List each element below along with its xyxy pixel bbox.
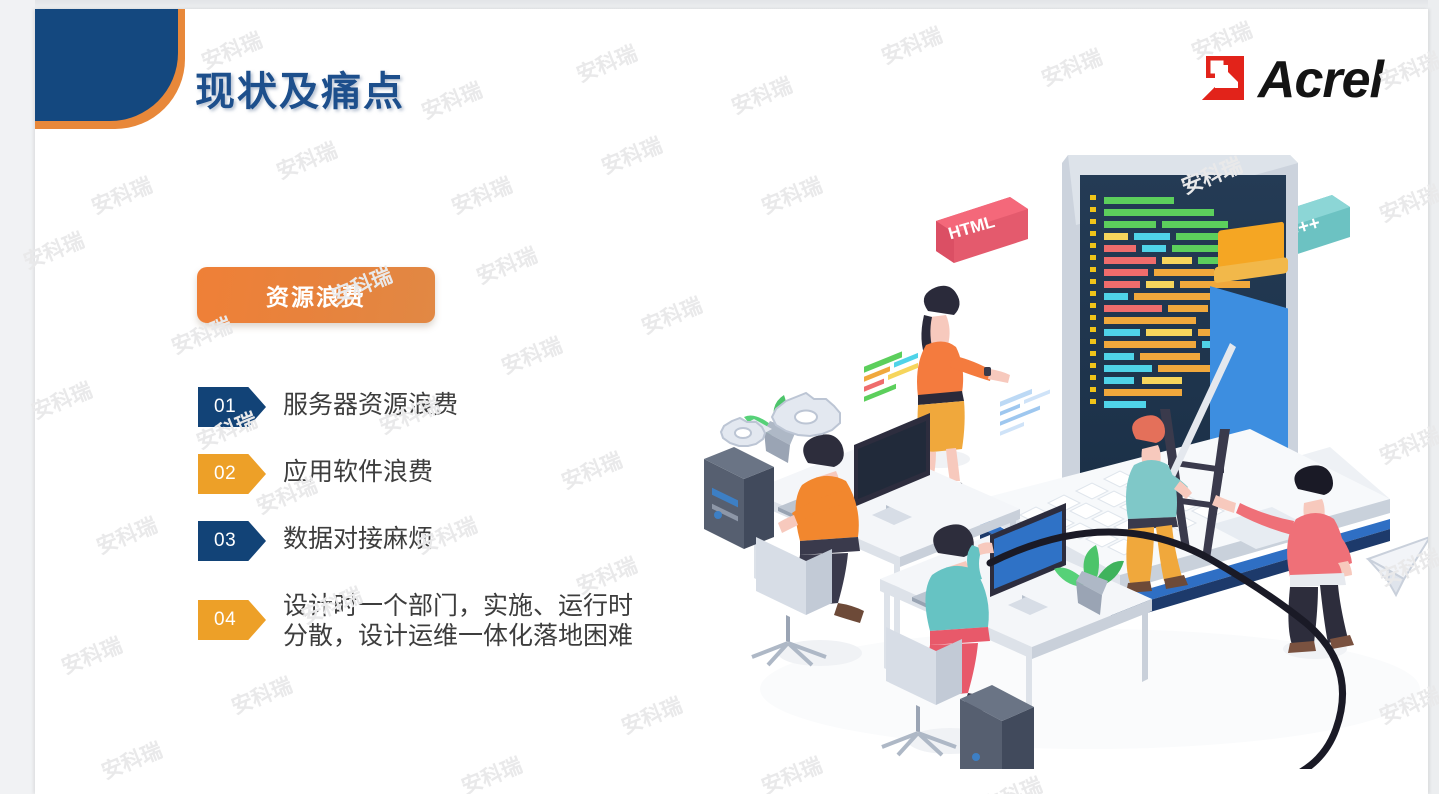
list-item-label: 设计时一个部门，实施、运行时 分散，设计运维一体化落地困难 [283,588,633,651]
html-tag-badge: HTML [936,197,1028,263]
slide-viewport: 现状及痛点 Acrel 资源浪费 01 [0,0,1439,794]
brand-name: Acrel [1258,54,1383,106]
list-item-number-badge: 03 [198,521,266,561]
category-pill-label: 资源浪费 [266,278,366,312]
brand-logo: Acrel [1198,54,1383,106]
category-pill[interactable]: 资源浪费 [197,267,435,323]
list-item-label: 应用软件浪费 [283,454,433,487]
list-item-number: 04 [214,609,236,631]
list-item-number: 01 [214,396,236,418]
list-item-number: 02 [214,463,236,485]
window-left-strip [0,0,35,794]
window-right-strip [1428,0,1439,794]
isometric-devops-team-illustration: HTML C++ [690,129,1428,769]
window-top-strip [0,0,1439,9]
list-item-label: 数据对接麻烦 [283,521,433,554]
list-item-number-badge: 02 [198,454,266,494]
presentation-slide: 现状及痛点 Acrel 资源浪费 01 [35,9,1428,794]
list-item-number: 03 [214,530,236,552]
illustration-svg: HTML C++ [690,129,1428,769]
page-title: 现状及痛点 [195,59,405,117]
paper-plane-icon [1368,537,1428,595]
corner-decoration [35,9,215,159]
list-item-number-badge: 04 [198,600,266,640]
list-item-label: 服务器资源浪费 [283,387,458,420]
list-item-number-badge: 01 [198,387,266,427]
acrel-logo-mark-icon [1198,54,1248,106]
